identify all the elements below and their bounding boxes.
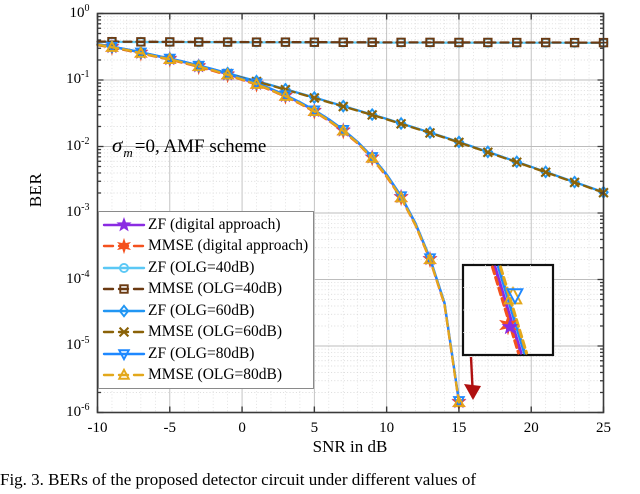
chart-svg	[0, 0, 640, 460]
legend-label: MMSE (OLG=60dB)	[148, 323, 282, 341]
figure-root: BER SNR in dB -10-50510152025 10010-110-…	[0, 0, 640, 494]
sigma-subscript: m	[123, 145, 132, 160]
y-tick-label: 10-1	[34, 69, 90, 88]
legend-item[interactable]: MMSE (OLG=40dB)	[102, 279, 309, 301]
series-marker-star	[118, 218, 130, 230]
plot-annotation: σm=0, AMF scheme	[112, 133, 266, 161]
x-tick-label: 20	[511, 420, 551, 437]
x-tick-label: 0	[222, 420, 262, 437]
legend-key-circle-icon	[102, 259, 146, 277]
sigma-symbol: σ	[112, 133, 122, 157]
legend-item[interactable]: MMSE (OLG=80dB)	[102, 365, 309, 387]
legend-key-star6-icon	[102, 237, 146, 255]
legend-item[interactable]: ZF (OLG=60dB)	[102, 300, 309, 322]
legend-label: ZF (OLG=60dB)	[148, 302, 254, 320]
legend-label: ZF (digital approach)	[148, 216, 281, 234]
y-tick-label: 10-5	[34, 335, 90, 354]
legend-item[interactable]: MMSE (digital approach)	[102, 236, 309, 258]
legend-key-triangle-up-icon	[102, 366, 146, 384]
legend-item[interactable]: MMSE (OLG=60dB)	[102, 322, 309, 344]
x-tick-label: 25	[584, 420, 624, 437]
x-tick-label: 5	[294, 420, 334, 437]
annotation-rest: =0, AMF scheme	[135, 136, 267, 157]
figure-caption: Fig. 3. BERs of the proposed detector ci…	[0, 470, 640, 490]
legend-item[interactable]: ZF (OLG=40dB)	[102, 257, 309, 279]
x-tick-label: -10	[78, 420, 118, 437]
legend-label: ZF (OLG=80dB)	[148, 345, 254, 363]
chart-legend: ZF (digital approach)MMSE (digital appro…	[98, 211, 314, 389]
legend-label: MMSE (digital approach)	[148, 237, 308, 255]
chart-area: BER SNR in dB -10-50510152025 10010-110-…	[0, 0, 640, 460]
legend-item[interactable]: ZF (digital approach)	[102, 214, 309, 236]
legend-item[interactable]: ZF (OLG=80dB)	[102, 343, 309, 365]
legend-key-diamond-icon	[102, 302, 146, 320]
legend-key-cross-icon	[102, 323, 146, 341]
y-tick-label: 100	[34, 3, 90, 22]
x-tick-label: 15	[439, 420, 479, 437]
zoom-inset	[463, 265, 553, 355]
y-tick-label: 10-4	[34, 269, 90, 288]
legend-key-triangle-down-icon	[102, 345, 146, 363]
y-tick-label: 10-2	[34, 136, 90, 155]
legend-label: ZF (OLG=40dB)	[148, 259, 254, 277]
series-marker-square	[120, 286, 127, 293]
legend-key-square-icon	[102, 280, 146, 298]
x-tick-label: 10	[367, 420, 407, 437]
x-axis-label: SNR in dB	[97, 437, 603, 457]
y-tick-label: 10-3	[34, 202, 90, 221]
legend-label: MMSE (OLG=80dB)	[148, 366, 282, 384]
legend-label: MMSE (OLG=40dB)	[148, 280, 282, 298]
x-tick-label: -5	[150, 420, 190, 437]
legend-key-star-icon	[102, 216, 146, 234]
y-tick-label: 10-6	[34, 402, 90, 421]
